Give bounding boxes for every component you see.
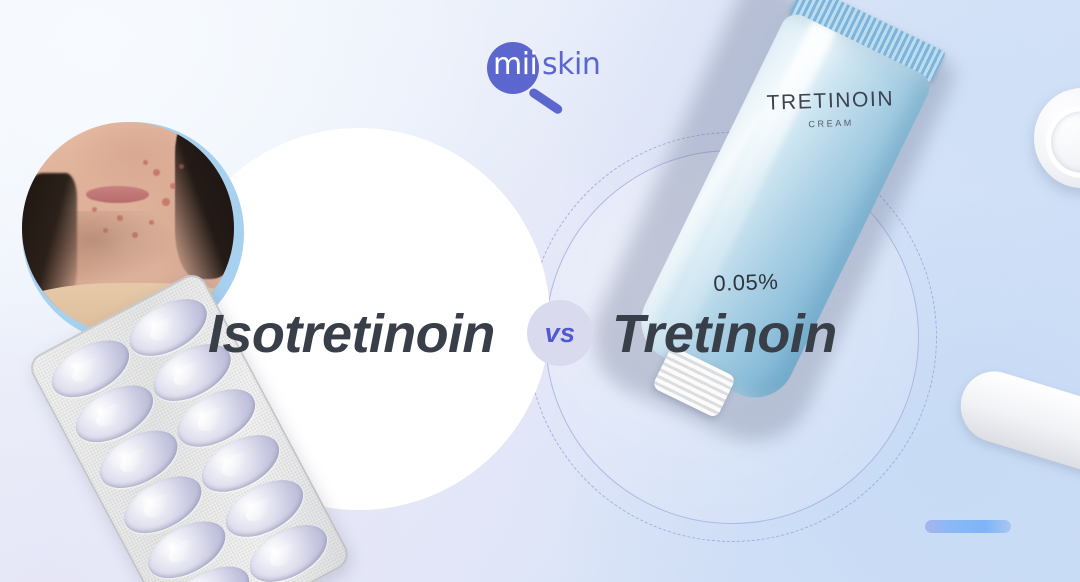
- logo-text-skin: skin: [542, 50, 600, 80]
- decor-blue-bar: [925, 520, 1011, 533]
- photo-lips: [86, 186, 150, 203]
- headline-separator-text: vs: [545, 318, 576, 349]
- headline-left-term: Isotretinoin: [208, 307, 495, 361]
- tube-label: TRETINOIN CREAM: [749, 87, 912, 132]
- hero-banner: TRETINOIN CREAM 0.05%: [0, 0, 1080, 582]
- miiskin-logo[interactable]: mii skin: [480, 34, 600, 100]
- headline-vs-badge: vs: [527, 300, 593, 366]
- logo-text-mii: mii: [493, 50, 537, 80]
- tube-form-text: CREAM: [750, 116, 912, 132]
- headline-left-wrap: Isotretinoin: [208, 292, 495, 376]
- photo-hair-right: [175, 122, 234, 279]
- headline-right-term: Tretinoin: [612, 307, 837, 361]
- tube-brand-text: TRETINOIN: [749, 87, 912, 117]
- headline-right-wrap: Tretinoin: [612, 292, 837, 376]
